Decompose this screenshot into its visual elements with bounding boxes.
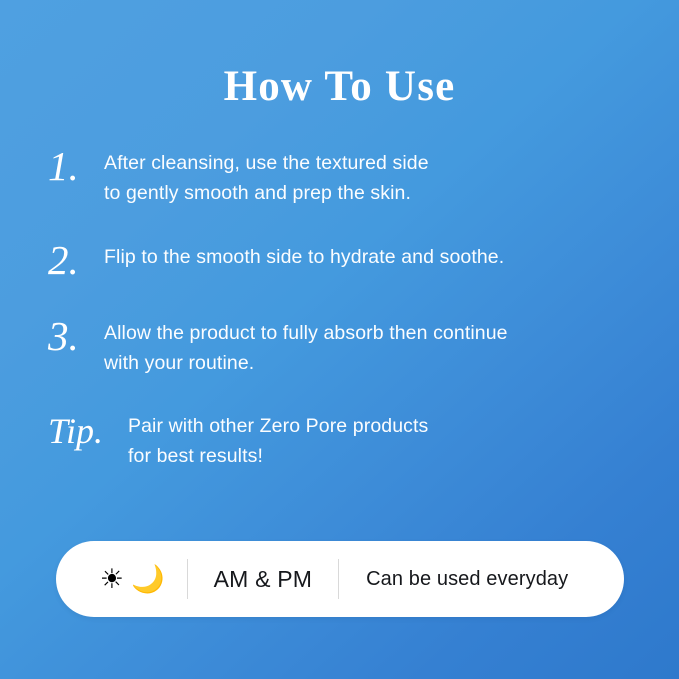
step-number-1: 1. <box>48 146 122 187</box>
frequency-label: Can be used everyday <box>339 568 588 591</box>
step-number-2: 2. <box>48 240 122 281</box>
list-item: 2. Flip to the smooth side to hydrate an… <box>0 242 679 286</box>
step-line: Flip to the smooth side to hydrate and s… <box>104 242 639 272</box>
step-line: After cleansing, use the textured side <box>104 148 639 178</box>
how-to-use-card: How To Use 1. After cleansing, use the t… <box>0 0 679 679</box>
usage-banner: ☀ 🌙 AM & PM Can be used everyday <box>56 541 624 617</box>
steps-list: 1. After cleansing, use the textured sid… <box>0 148 679 471</box>
step-line: to gently smooth and prep the skin. <box>104 178 639 208</box>
tip-line: for best results! <box>128 441 639 471</box>
crescent-moon-icon: 🌙 <box>131 566 165 593</box>
list-item: 3. Allow the product to fully absorb the… <box>0 318 679 378</box>
step-line: with your routine. <box>104 348 639 378</box>
sun-icon: ☀ <box>100 566 124 593</box>
list-item-tip: Tip. Pair with other Zero Pore products … <box>0 411 679 471</box>
step-line: Allow the product to fully absorb then c… <box>104 318 639 348</box>
step-text-1: After cleansing, use the textured side t… <box>104 148 679 208</box>
tip-text: Pair with other Zero Pore products for b… <box>128 411 679 471</box>
usage-banner-content: ☀ 🌙 AM & PM Can be used everyday <box>92 557 589 601</box>
time-of-day-icons: ☀ 🌙 <box>92 566 187 593</box>
tip-marker: Tip. <box>48 413 122 449</box>
step-text-2: Flip to the smooth side to hydrate and s… <box>104 242 679 272</box>
list-item: 1. After cleansing, use the textured sid… <box>0 148 679 208</box>
time-of-day-label: AM & PM <box>188 566 339 593</box>
page-title: How To Use <box>0 63 679 110</box>
step-text-3: Allow the product to fully absorb then c… <box>104 318 679 378</box>
tip-line: Pair with other Zero Pore products <box>128 411 639 441</box>
step-number-3: 3. <box>48 316 122 357</box>
